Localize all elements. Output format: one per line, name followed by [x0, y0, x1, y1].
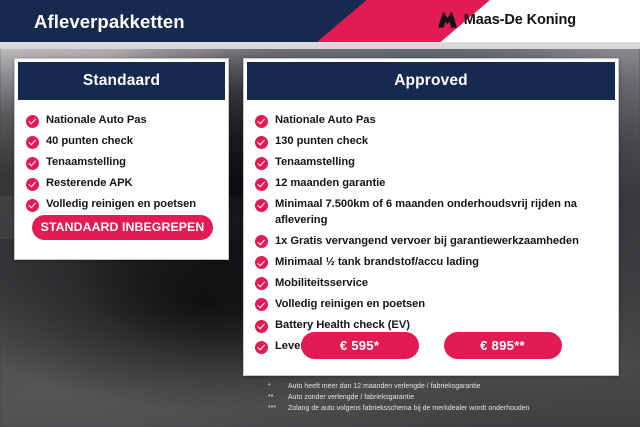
- footnote-marker: *: [268, 381, 288, 392]
- list-item: Minimaal 7.500km of 6 maanden onderhouds…: [255, 197, 608, 227]
- footnote-text: Auto zonder verlengde / fabrieksgarantie: [288, 392, 640, 403]
- check-circle-icon: [26, 157, 39, 170]
- footnote-block: * Auto heeft meer dan 12 maanden verleng…: [268, 381, 640, 415]
- check-circle-icon: [26, 115, 39, 128]
- check-circle-icon: [255, 157, 268, 170]
- card-approved-header: Approved: [247, 62, 615, 100]
- price-button-row: € 595* € 895**: [244, 332, 618, 359]
- list-item: 12 maanden garantie: [255, 176, 608, 191]
- list-item: Nationale Auto Pas: [255, 113, 608, 128]
- list-item: Minimaal ½ tank brandstof/accu lading: [255, 255, 608, 270]
- feature-label: Mobiliteitsservice: [275, 276, 368, 291]
- feature-label: Tenaamstelling: [46, 155, 126, 170]
- footnote-1: * Auto heeft meer dan 12 maanden verleng…: [268, 381, 640, 392]
- feature-label: Nationale Auto Pas: [275, 113, 376, 128]
- delivery-packages-poster: Afleverpakketten Maas-De Koning Standaar…: [0, 0, 640, 427]
- feature-label: Volledig reinigen en poetsen: [46, 197, 196, 212]
- feature-label: Volledig reinigen en poetsen: [275, 297, 425, 312]
- page-title: Afleverpakketten: [34, 11, 185, 33]
- feature-label: 40 punten check: [46, 134, 133, 149]
- list-item: Volledig reinigen en poetsen: [255, 297, 608, 312]
- card-standaard: Standaard Nationale Auto Pas 40 punten c…: [14, 58, 229, 260]
- feature-label: Resterende APK: [46, 176, 133, 191]
- list-item: 1x Gratis vervangend vervoer bij garanti…: [255, 234, 608, 249]
- list-item: 40 punten check: [26, 134, 218, 149]
- list-item: Tenaamstelling: [255, 155, 608, 170]
- footnote-marker: **: [268, 392, 288, 403]
- check-circle-icon: [255, 256, 268, 269]
- list-item: Mobiliteitsservice: [255, 276, 608, 291]
- check-circle-icon: [255, 235, 268, 248]
- list-item: Volledig reinigen en poetsen: [26, 197, 218, 212]
- feature-label: 12 maanden garantie: [275, 176, 385, 191]
- price-button-595[interactable]: € 595*: [301, 332, 419, 359]
- feature-label: Minimaal ½ tank brandstof/accu lading: [275, 255, 479, 270]
- footnote-3: *** Zolang de auto volgens fabrieksschem…: [268, 403, 640, 414]
- footnote-text: Auto heeft meer dan 12 maanden verlengde…: [288, 381, 640, 392]
- list-item: Nationale Auto Pas: [26, 113, 218, 128]
- card-standaard-feature-list: Nationale Auto Pas 40 punten check Tenaa…: [15, 100, 228, 213]
- brand-lockup: Maas-De Koning: [438, 11, 576, 28]
- feature-label: Minimaal 7.500km of 6 maanden onderhouds…: [275, 197, 608, 227]
- check-circle-icon: [26, 178, 39, 191]
- banner-underline: [0, 42, 640, 49]
- list-item: Resterende APK: [26, 176, 218, 191]
- check-circle-icon: [255, 320, 268, 333]
- feature-label: Tenaamstelling: [275, 155, 355, 170]
- footnote-2: ** Auto zonder verlengde / fabrieksgaran…: [268, 392, 640, 403]
- card-approved: Approved Nationale Auto Pas 130 punten c…: [243, 58, 619, 376]
- feature-label: Nationale Auto Pas: [46, 113, 147, 128]
- check-circle-icon: [26, 199, 39, 212]
- check-circle-icon: [255, 199, 268, 212]
- check-circle-icon: [255, 136, 268, 149]
- feature-label: 1x Gratis vervangend vervoer bij garanti…: [275, 234, 579, 249]
- footnote-text: Zolang de auto volgens fabrieksschema bi…: [288, 403, 640, 414]
- list-item: Battery Health check (EV): [255, 318, 608, 333]
- card-approved-feature-list: Nationale Auto Pas 130 punten check Tena…: [244, 100, 618, 354]
- check-circle-icon: [26, 136, 39, 149]
- check-circle-icon: [255, 115, 268, 128]
- standaard-inbegrepen-button[interactable]: STANDAARD INBEGREPEN: [32, 215, 213, 240]
- maas-de-koning-logo-icon: [438, 11, 457, 28]
- footnote-marker: ***: [268, 403, 288, 414]
- brand-name: Maas-De Koning: [464, 12, 576, 28]
- list-item: Tenaamstelling: [26, 155, 218, 170]
- page-banner: Afleverpakketten Maas-De Koning: [0, 0, 640, 42]
- check-circle-icon: [255, 178, 268, 191]
- card-standaard-header: Standaard: [18, 62, 225, 100]
- feature-label: Battery Health check (EV): [275, 318, 410, 333]
- list-item: 130 punten check: [255, 134, 608, 149]
- price-button-895[interactable]: € 895**: [444, 332, 562, 359]
- check-circle-icon: [255, 298, 268, 311]
- feature-label: 130 punten check: [275, 134, 368, 149]
- check-circle-icon: [255, 277, 268, 290]
